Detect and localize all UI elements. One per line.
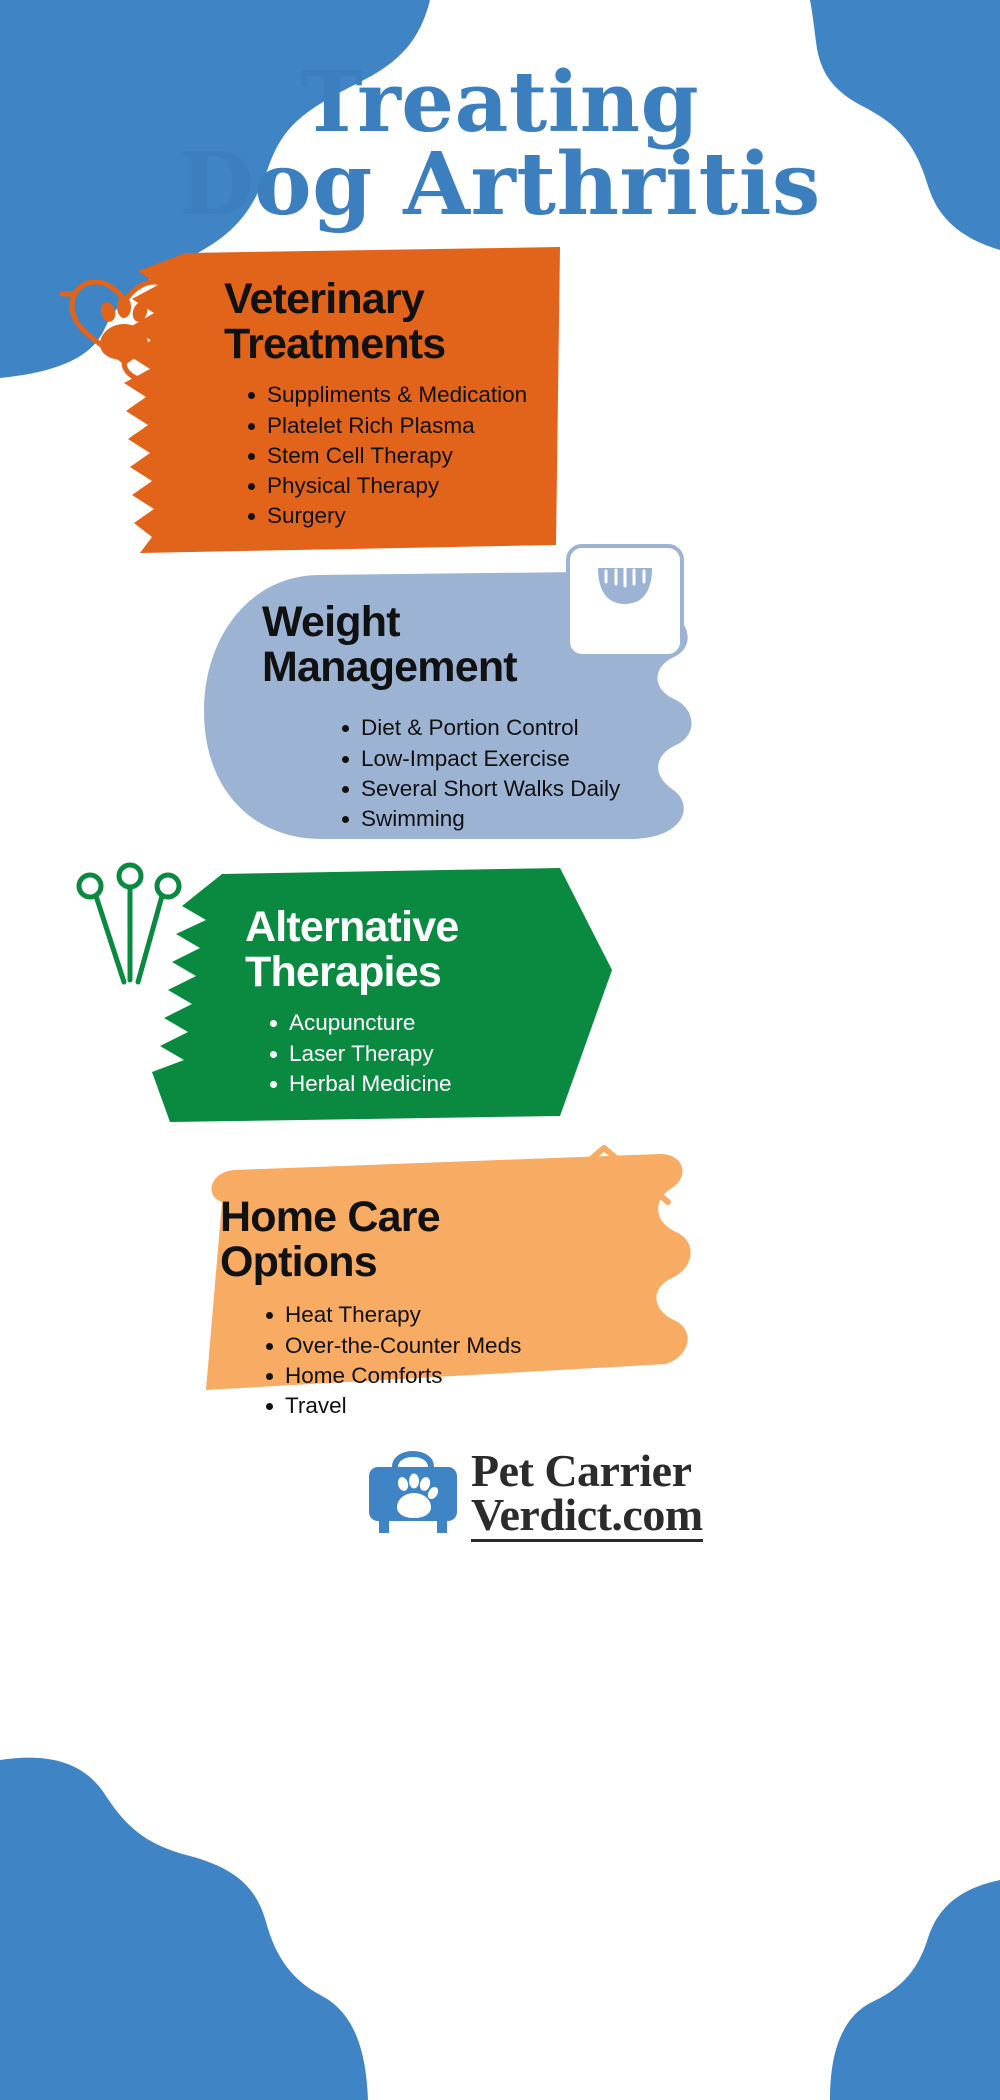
- list-item: Several Short Walks Daily: [340, 774, 750, 804]
- homecare-heading: Home Care Options: [220, 1195, 780, 1284]
- weight-heading-line1: Weight: [262, 598, 400, 646]
- weight-heading-line2: Management: [262, 643, 517, 691]
- list-item: Swimming: [340, 804, 750, 834]
- list-item: Travel: [264, 1391, 780, 1421]
- list-item: Diet & Portion Control: [340, 713, 750, 743]
- veterinary-heading: Veterinary Treatments: [224, 277, 620, 366]
- house-heart-icon: [524, 1136, 684, 1281]
- list-item: Stem Cell Therapy: [246, 441, 620, 471]
- homecare-list: Heat Therapy Over-the-Counter Meds Home …: [220, 1300, 780, 1421]
- list-item: Laser Therapy: [268, 1039, 680, 1069]
- list-item: Herbal Medicine: [268, 1069, 680, 1099]
- list-item: Suppliments & Medication: [246, 380, 620, 410]
- list-item: Home Comforts: [264, 1361, 780, 1391]
- list-item: Low-Impact Exercise: [340, 744, 750, 774]
- homecare-heading-line1: Home Care: [220, 1193, 440, 1241]
- veterinary-heading-line2: Treatments: [224, 320, 445, 368]
- list-item: Acupuncture: [268, 1008, 680, 1038]
- list-item: Platelet Rich Plasma: [246, 411, 620, 441]
- weight-list: Diet & Portion Control Low-Impact Exerci…: [262, 713, 750, 834]
- logo-line1: Pet Carrier: [471, 1448, 703, 1494]
- logo-line2: Verdict.com: [471, 1492, 703, 1538]
- stethoscope-paw-heart-icon: [50, 268, 200, 393]
- acupuncture-needles-icon: [68, 862, 198, 1007]
- list-item: Over-the-Counter Meds: [264, 1331, 780, 1361]
- alternative-heading-line1: Alternative: [245, 903, 458, 951]
- infographic-page: Treating Dog Arthritis Veterinary Treatm…: [0, 0, 1000, 2100]
- bathroom-scale-icon: [560, 538, 690, 673]
- pet-carrier-paw-icon: [365, 1451, 461, 1539]
- list-item: Physical Therapy: [246, 471, 620, 501]
- list-item: Heat Therapy: [264, 1300, 780, 1330]
- page-title-line1: Treating: [0, 62, 1000, 143]
- section-home-care-options: Home Care Options Heat Therapy Over-the-…: [160, 1140, 780, 1440]
- alternative-heading: Alternative Therapies: [245, 905, 680, 994]
- veterinary-heading-line1: Veterinary: [224, 275, 424, 323]
- homecare-heading-line2: Options: [220, 1238, 377, 1286]
- page-title-line2: Dog Arthritis: [0, 143, 1000, 227]
- veterinary-list: Suppliments & Medication Platelet Rich P…: [224, 380, 620, 531]
- site-logo[interactable]: Pet Carrier Verdict.com: [365, 1448, 703, 1542]
- list-item: Surgery: [246, 501, 620, 531]
- alternative-heading-line2: Therapies: [245, 948, 441, 996]
- page-title: Treating Dog Arthritis: [0, 62, 1000, 228]
- alternative-list: Acupuncture Laser Therapy Herbal Medicin…: [245, 1008, 680, 1098]
